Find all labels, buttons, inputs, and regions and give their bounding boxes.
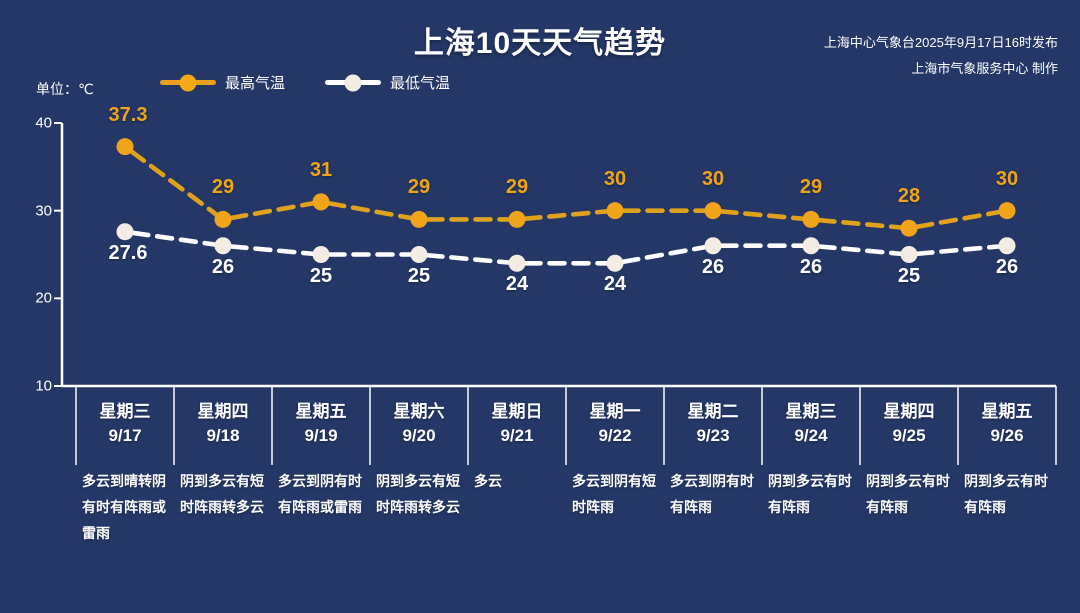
low-temp-value-label: 26 bbox=[800, 256, 822, 279]
day-date-label: 9/18 bbox=[174, 424, 272, 448]
low-temp-point bbox=[509, 255, 526, 272]
day-weather-description: 多云到阴有时有阵雨 bbox=[670, 468, 756, 520]
day-of-week-label: 星期一 bbox=[566, 400, 664, 424]
low-temp-value-label: 25 bbox=[310, 265, 332, 288]
high-temp-line-segment bbox=[329, 203, 410, 218]
high-temp-value-label: 30 bbox=[702, 168, 724, 191]
high-temp-point bbox=[999, 202, 1016, 219]
high-temp-point bbox=[509, 211, 526, 228]
high-temp-value-label: 29 bbox=[800, 176, 822, 199]
high-temp-line-segment bbox=[525, 211, 606, 218]
low-temp-line-segment bbox=[427, 255, 508, 262]
high-temp-line-segment bbox=[132, 152, 216, 215]
high-temp-point bbox=[215, 211, 232, 228]
day-column-header[interactable]: 星期三9/17 bbox=[76, 392, 174, 448]
low-temp-value-label: 26 bbox=[702, 256, 724, 279]
day-weather-description: 阴到多云有时有阵雨 bbox=[866, 468, 952, 520]
low-temp-point bbox=[117, 223, 134, 240]
day-date-label: 9/17 bbox=[76, 424, 174, 448]
low-temp-point bbox=[411, 246, 428, 263]
high-temp-line-segment bbox=[917, 212, 998, 227]
low-temp-line-segment bbox=[917, 246, 998, 253]
day-of-week-label: 星期五 bbox=[958, 400, 1056, 424]
day-date-label: 9/20 bbox=[370, 424, 468, 448]
high-temp-line-segment bbox=[231, 203, 312, 218]
day-of-week-label: 星期日 bbox=[468, 400, 566, 424]
low-temp-point bbox=[215, 237, 232, 254]
high-temp-value-label: 31 bbox=[310, 159, 332, 182]
day-weather-description: 多云到阴有短时阵雨 bbox=[572, 468, 658, 520]
day-of-week-label: 星期四 bbox=[174, 400, 272, 424]
low-temp-value-label: 25 bbox=[408, 265, 430, 288]
low-temp-value-label: 27.6 bbox=[109, 242, 148, 265]
day-column-header[interactable]: 星期五9/26 bbox=[958, 392, 1056, 448]
high-temp-point bbox=[705, 202, 722, 219]
low-temp-line-segment bbox=[819, 246, 900, 253]
high-temp-point bbox=[117, 138, 134, 155]
y-axis-tick-label: 30 bbox=[18, 202, 52, 219]
day-weather-description: 阴到多云有短时阵雨转多云 bbox=[376, 468, 462, 520]
high-temp-value-label: 28 bbox=[898, 185, 920, 208]
high-temp-value-label: 29 bbox=[408, 176, 430, 199]
day-of-week-label: 星期三 bbox=[76, 400, 174, 424]
low-temp-line-segment bbox=[231, 246, 312, 253]
day-weather-description: 阴到多云有时有阵雨 bbox=[768, 468, 854, 520]
day-of-week-label: 星期五 bbox=[272, 400, 370, 424]
day-weather-description: 阴到多云有短时阵雨转多云 bbox=[180, 468, 266, 520]
high-temp-point bbox=[411, 211, 428, 228]
low-temp-point bbox=[313, 246, 330, 263]
day-column-header[interactable]: 星期四9/25 bbox=[860, 392, 958, 448]
day-date-label: 9/23 bbox=[664, 424, 762, 448]
day-column-header[interactable]: 星期五9/19 bbox=[272, 392, 370, 448]
y-axis-tick-label: 10 bbox=[18, 378, 52, 395]
low-temp-point bbox=[901, 246, 918, 263]
day-of-week-label: 星期二 bbox=[664, 400, 762, 424]
day-weather-description: 多云到晴转阴有时有阵雨或雷雨 bbox=[82, 468, 168, 546]
day-column-header[interactable]: 星期六9/20 bbox=[370, 392, 468, 448]
high-temp-value-label: 37.3 bbox=[109, 104, 148, 127]
high-temp-line-segment bbox=[819, 220, 900, 227]
day-date-label: 9/21 bbox=[468, 424, 566, 448]
low-temp-line-segment bbox=[623, 247, 704, 262]
high-temp-point bbox=[607, 202, 624, 219]
low-temp-point bbox=[803, 237, 820, 254]
low-temp-value-label: 24 bbox=[506, 273, 528, 296]
low-temp-value-label: 24 bbox=[604, 273, 626, 296]
high-temp-point bbox=[313, 193, 330, 210]
day-of-week-label: 星期四 bbox=[860, 400, 958, 424]
day-column-header[interactable]: 星期三9/24 bbox=[762, 392, 860, 448]
low-temp-point bbox=[705, 237, 722, 254]
day-date-label: 9/19 bbox=[272, 424, 370, 448]
day-date-label: 9/26 bbox=[958, 424, 1056, 448]
high-temp-point bbox=[803, 211, 820, 228]
day-column-header[interactable]: 星期一9/22 bbox=[566, 392, 664, 448]
high-temp-value-label: 29 bbox=[506, 176, 528, 199]
high-temp-value-label: 30 bbox=[996, 168, 1018, 191]
low-temp-value-label: 26 bbox=[996, 256, 1018, 279]
high-temp-line-segment bbox=[721, 211, 802, 218]
low-temp-value-label: 26 bbox=[212, 256, 234, 279]
y-axis-tick-label: 40 bbox=[18, 115, 52, 132]
day-date-label: 9/22 bbox=[566, 424, 664, 448]
day-column-header[interactable]: 星期二9/23 bbox=[664, 392, 762, 448]
day-date-label: 9/24 bbox=[762, 424, 860, 448]
day-weather-description: 阴到多云有时有阵雨 bbox=[964, 468, 1050, 520]
day-column-header[interactable]: 星期日9/21 bbox=[468, 392, 566, 448]
high-temp-point bbox=[901, 220, 918, 237]
day-weather-description: 多云 bbox=[474, 468, 560, 494]
y-axis-tick-label: 20 bbox=[18, 290, 52, 307]
day-date-label: 9/25 bbox=[860, 424, 958, 448]
low-temp-value-label: 25 bbox=[898, 265, 920, 288]
day-column-header[interactable]: 星期四9/18 bbox=[174, 392, 272, 448]
weather-trend-chart: 上海10天天气趋势 上海中心气象台2025年9月17日16时发布 上海市气象服务… bbox=[0, 0, 1080, 613]
low-temp-point bbox=[607, 255, 624, 272]
day-of-week-label: 星期三 bbox=[762, 400, 860, 424]
low-temp-point bbox=[999, 237, 1016, 254]
high-temp-value-label: 29 bbox=[212, 176, 234, 199]
day-of-week-label: 星期六 bbox=[370, 400, 468, 424]
high-temp-value-label: 30 bbox=[604, 168, 626, 191]
day-weather-description: 多云到阴有时有阵雨或雷雨 bbox=[278, 468, 364, 520]
